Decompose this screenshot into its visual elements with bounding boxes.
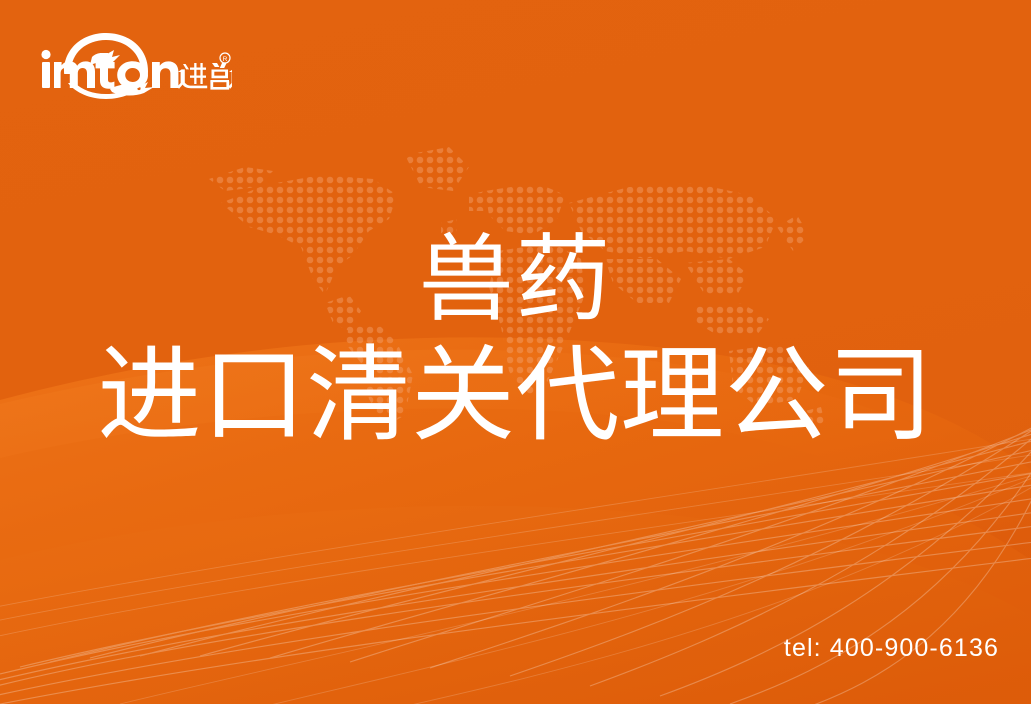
registered-trademark-icon: R (220, 53, 230, 63)
chinese-name-icon (177, 63, 232, 90)
page-title-line-1: 兽药 (0, 232, 1031, 329)
svg-text:R: R (223, 56, 228, 63)
promo-banner: R 兽药 进口清关代理公司 tel: 400-900-6136 (0, 0, 1031, 704)
page-title-line-2: 进口清关代理公司 (0, 343, 1031, 449)
page-title: 兽药 进口清关代理公司 (0, 232, 1031, 449)
imton-logo-mark: R (40, 27, 232, 101)
imton-logo[interactable]: R (40, 27, 232, 101)
contact-phone[interactable]: tel: 400-900-6136 (784, 634, 999, 663)
